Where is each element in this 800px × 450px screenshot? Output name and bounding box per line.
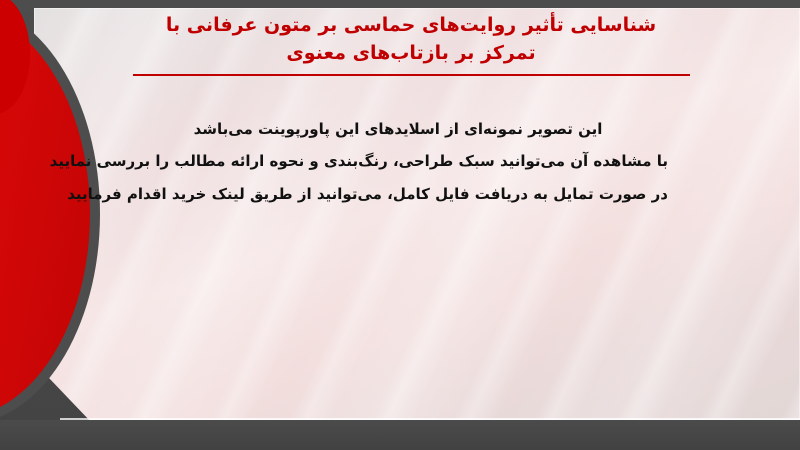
page-title: شناسایی تأثیر روایت‌های حماسی بر متون عر… (130, 12, 692, 67)
bottom-dark-band (0, 420, 800, 450)
presentation-slide: شناسایی تأثیر روایت‌های حماسی بر متون عر… (0, 0, 800, 450)
slide-body-block: این تصویر نمونه‌ای از اسلایدهای این پاور… (128, 118, 668, 206)
body-line-1: این تصویر نمونه‌ای از اسلایدهای این پاور… (128, 118, 668, 141)
slide-title-block: شناسایی تأثیر روایت‌های حماسی بر متون عر… (130, 12, 692, 67)
body-line-3: در صورت تمایل به دریافت فایل کامل، می‌تو… (128, 183, 668, 206)
body-line-2: با مشاهده آن می‌توانید سبک طراحی، رنگ‌بن… (128, 150, 668, 173)
slide-content-panel (34, 8, 800, 420)
title-divider-rule (133, 74, 690, 76)
